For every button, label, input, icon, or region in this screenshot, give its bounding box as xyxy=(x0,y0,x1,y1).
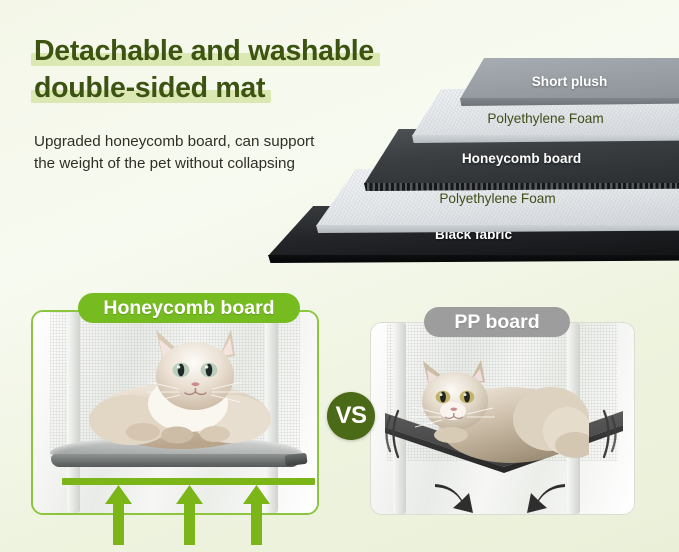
comparison-panel-pp-board xyxy=(370,322,635,515)
cat-illustration-sitting xyxy=(85,320,281,450)
slab-front-edge xyxy=(316,225,679,233)
stress-lines-right xyxy=(599,405,621,463)
badge-honeycomb-board: Honeycomb board xyxy=(78,293,300,323)
badge-label: PP board xyxy=(454,311,539,334)
support-arrow-up-3 xyxy=(242,485,271,545)
layer-label: Short plush xyxy=(460,74,679,89)
stress-lines-left xyxy=(381,405,403,463)
badge-pp-board: PP board xyxy=(424,307,570,337)
infographic-canvas: Detachable and washable double-sided mat… xyxy=(0,0,679,552)
layer-label: Polyethylene Foam xyxy=(316,191,679,206)
badge-label: Honeycomb board xyxy=(103,297,274,320)
pp-board-scene-photo xyxy=(371,323,634,514)
slab-front-edge xyxy=(460,98,679,106)
layer-label: Honeycomb board xyxy=(364,151,679,166)
vs-indicator: VS xyxy=(327,392,375,440)
mat-side-edge xyxy=(51,454,300,467)
collapse-arrow-down-2 xyxy=(521,481,567,514)
headline-line-1-text: Detachable and washable xyxy=(34,35,374,67)
layer-stack-diagram: Black fabric Polyethylene Foam Honeycomb… xyxy=(268,58,679,263)
headline-line-1: Detachable and washable xyxy=(34,36,374,68)
vs-label: VS xyxy=(335,402,366,430)
slab-corrugated-edge xyxy=(364,183,679,191)
collapse-arrow-down-1 xyxy=(433,481,479,514)
slab-front-edge xyxy=(412,135,679,143)
support-arrow-up-2 xyxy=(175,485,204,545)
cat-illustration-lying xyxy=(399,353,589,468)
headline-line-2: double-sided mat xyxy=(34,73,265,105)
support-bar-green xyxy=(62,478,315,485)
headline-line-2-text: double-sided mat xyxy=(34,72,265,104)
layer-label: Polyethylene Foam xyxy=(412,111,679,126)
support-arrow-up-1 xyxy=(104,485,133,545)
layer-short-plush: Short plush xyxy=(460,58,679,106)
slab-front-edge xyxy=(268,255,679,263)
